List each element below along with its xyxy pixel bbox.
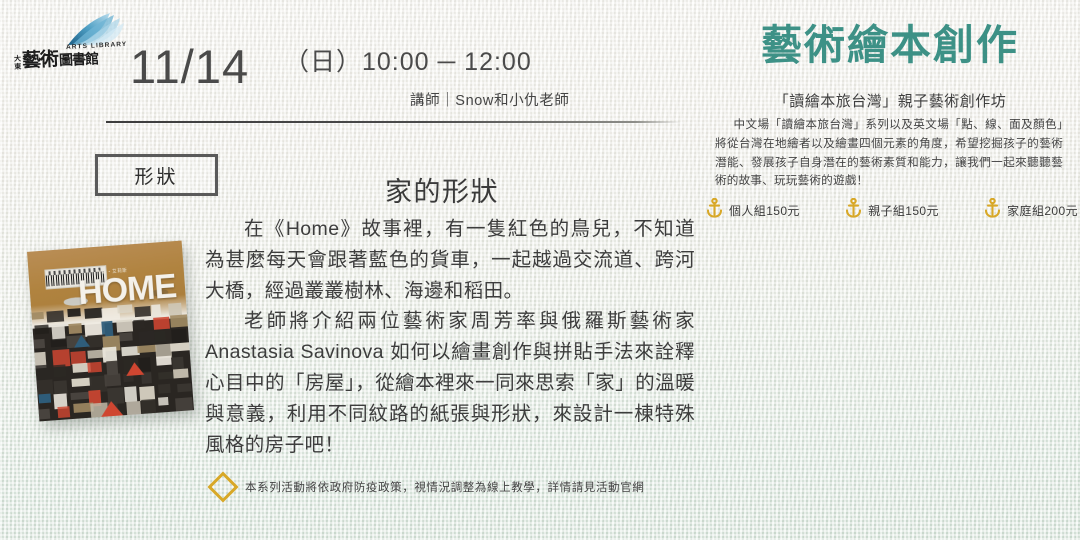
program-description: 中文場「讀繪本旅台灣」系列以及英文場「點、線、面及顏色」將從台灣在地繪者以及繪畫… xyxy=(715,116,1063,191)
price-label: 親子組150元 xyxy=(868,202,939,219)
event-date: 11/14 xyxy=(130,43,249,90)
price-list: 個人組150元 親子組150元 xyxy=(706,198,1078,223)
footnote: 本系列活動將依政府防疫政策，視情況調整為線上教學，詳情請見活動官網 xyxy=(212,476,644,498)
event-lecturer: 講師｜Snow和小仇老師 xyxy=(410,89,569,110)
header-divider xyxy=(106,121,681,123)
diamond-icon xyxy=(207,471,238,502)
main-paragraph: 在《Home》故事裡，有一隻紅色的鳥兒，不知道為甚麼每天會跟著藍色的貨車，一起越… xyxy=(205,214,695,306)
program-description-wrap: 中文場「讀繪本旅台灣」系列以及英文場「點、線、面及顏色」將從台灣在地繪者以及繪畫… xyxy=(715,116,1063,191)
event-time: （日）10:00 ─ 12:00 xyxy=(284,50,532,75)
price-label: 家庭組200元 xyxy=(1007,202,1078,219)
anchor-icon xyxy=(706,198,723,223)
logo-name-secondary: 圖書館 xyxy=(59,48,99,71)
program-subtitle: 「讀繪本旅台灣」親子藝術創作坊 xyxy=(700,90,1080,111)
anchor-icon xyxy=(845,198,862,223)
logo-name-primary: 藝術 xyxy=(21,44,58,73)
price-label: 個人組150元 xyxy=(729,202,800,219)
footnote-text: 本系列活動將依政府防疫政策，視情況調整為線上教學，詳情請見活動官網 xyxy=(245,479,644,495)
topic-tag-label: 形狀 xyxy=(134,162,178,189)
anchor-icon xyxy=(984,198,1001,223)
logo-prefix: 大 東 xyxy=(14,56,22,73)
book-cover-collage xyxy=(31,302,194,422)
price-item: 親子組150元 xyxy=(845,198,939,223)
topic-tag: 形狀 xyxy=(95,154,218,196)
book-cover-image: 卡森‧艾莉斯 HOME xyxy=(27,241,194,422)
library-logo: ARTS LIBRARY 大 東 藝術 圖書館 xyxy=(14,12,126,70)
price-item: 家庭組200元 xyxy=(984,198,1078,223)
main-paragraph: 老師將介紹兩位藝術家周芳率與俄羅斯藝術家 Anastasia Savinova … xyxy=(205,306,695,460)
price-item: 個人組150元 xyxy=(706,198,800,223)
program-title: 藝術繪本創作 xyxy=(700,25,1080,66)
page-title: 家的形狀 xyxy=(385,170,499,209)
main-body: 在《Home》故事裡，有一隻紅色的鳥兒，不知道為甚麼每天會跟著藍色的貨車，一起越… xyxy=(205,214,695,460)
